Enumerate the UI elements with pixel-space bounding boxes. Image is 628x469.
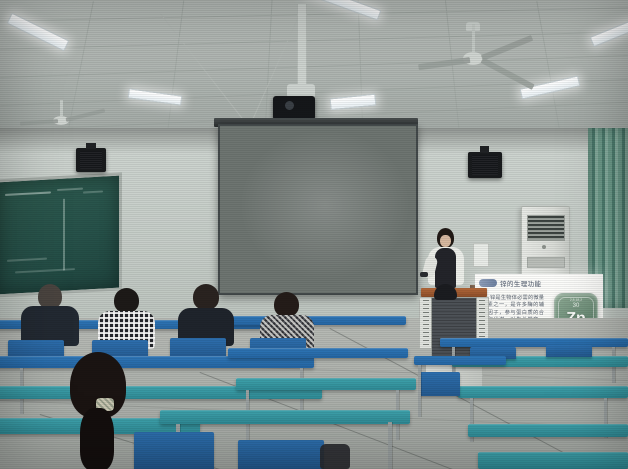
- element-atomic-number: 30: [555, 303, 597, 309]
- classroom-photo: 锌的生理功能 锌是生物体必需的微量元素之一，是许多酶的辅助因子，参与蛋白质的合成…: [0, 0, 628, 469]
- projector: [273, 96, 315, 120]
- desk-row: [236, 378, 416, 390]
- student-head: [274, 292, 299, 317]
- desk-row: [478, 452, 628, 469]
- desk-leg: [418, 365, 421, 417]
- presenter-vest: [435, 248, 456, 288]
- presenter: [424, 228, 468, 298]
- desk-row: [160, 410, 410, 424]
- wall-speaker-left: [76, 148, 106, 172]
- desk-row: [226, 316, 406, 325]
- bag-on-floor: [320, 444, 350, 469]
- chair: [238, 440, 324, 469]
- student-row-back: [96, 288, 156, 344]
- ac-indicator-icon: [542, 245, 546, 249]
- presenter-skirt: [434, 284, 457, 300]
- slide-title: 锌的生理功能: [500, 278, 541, 288]
- chair: [420, 372, 460, 396]
- chalkboard: [0, 172, 122, 297]
- ac-control-panel: [527, 257, 565, 268]
- desk-row: [414, 356, 506, 365]
- desk-row: [228, 348, 408, 358]
- student-row-back: [176, 284, 236, 340]
- desk-leg: [388, 422, 392, 469]
- projection-screen: 锌的生理功能 锌是生物体必需的微量元素之一，是许多酶的辅助因子，参与蛋白质的合成…: [218, 124, 418, 295]
- chair: [546, 345, 592, 357]
- student-head: [193, 284, 219, 310]
- projector-lens-icon: [285, 101, 294, 110]
- ceiling-fan: [60, 100, 62, 128]
- desk-row: [440, 338, 628, 347]
- projector-pole: [297, 4, 307, 86]
- ceiling: [0, 0, 628, 135]
- element-shell-config: 2,8,18,2: [555, 298, 597, 302]
- ac-vent-icon: [527, 215, 565, 241]
- chair: [134, 432, 214, 469]
- desk-row: [468, 424, 628, 437]
- student-head: [114, 288, 139, 313]
- student-ponytail: [80, 408, 114, 469]
- ceiling-fan: [472, 24, 474, 64]
- student-row-back: [18, 284, 80, 340]
- presenter-face: [440, 235, 451, 247]
- wall-notice: [473, 243, 489, 267]
- slide-accent-bar: [479, 279, 497, 287]
- wall-speaker-right: [468, 152, 502, 178]
- student-foreground: [58, 352, 136, 469]
- presenter-clicker: [420, 272, 428, 277]
- desk-row: [458, 386, 628, 398]
